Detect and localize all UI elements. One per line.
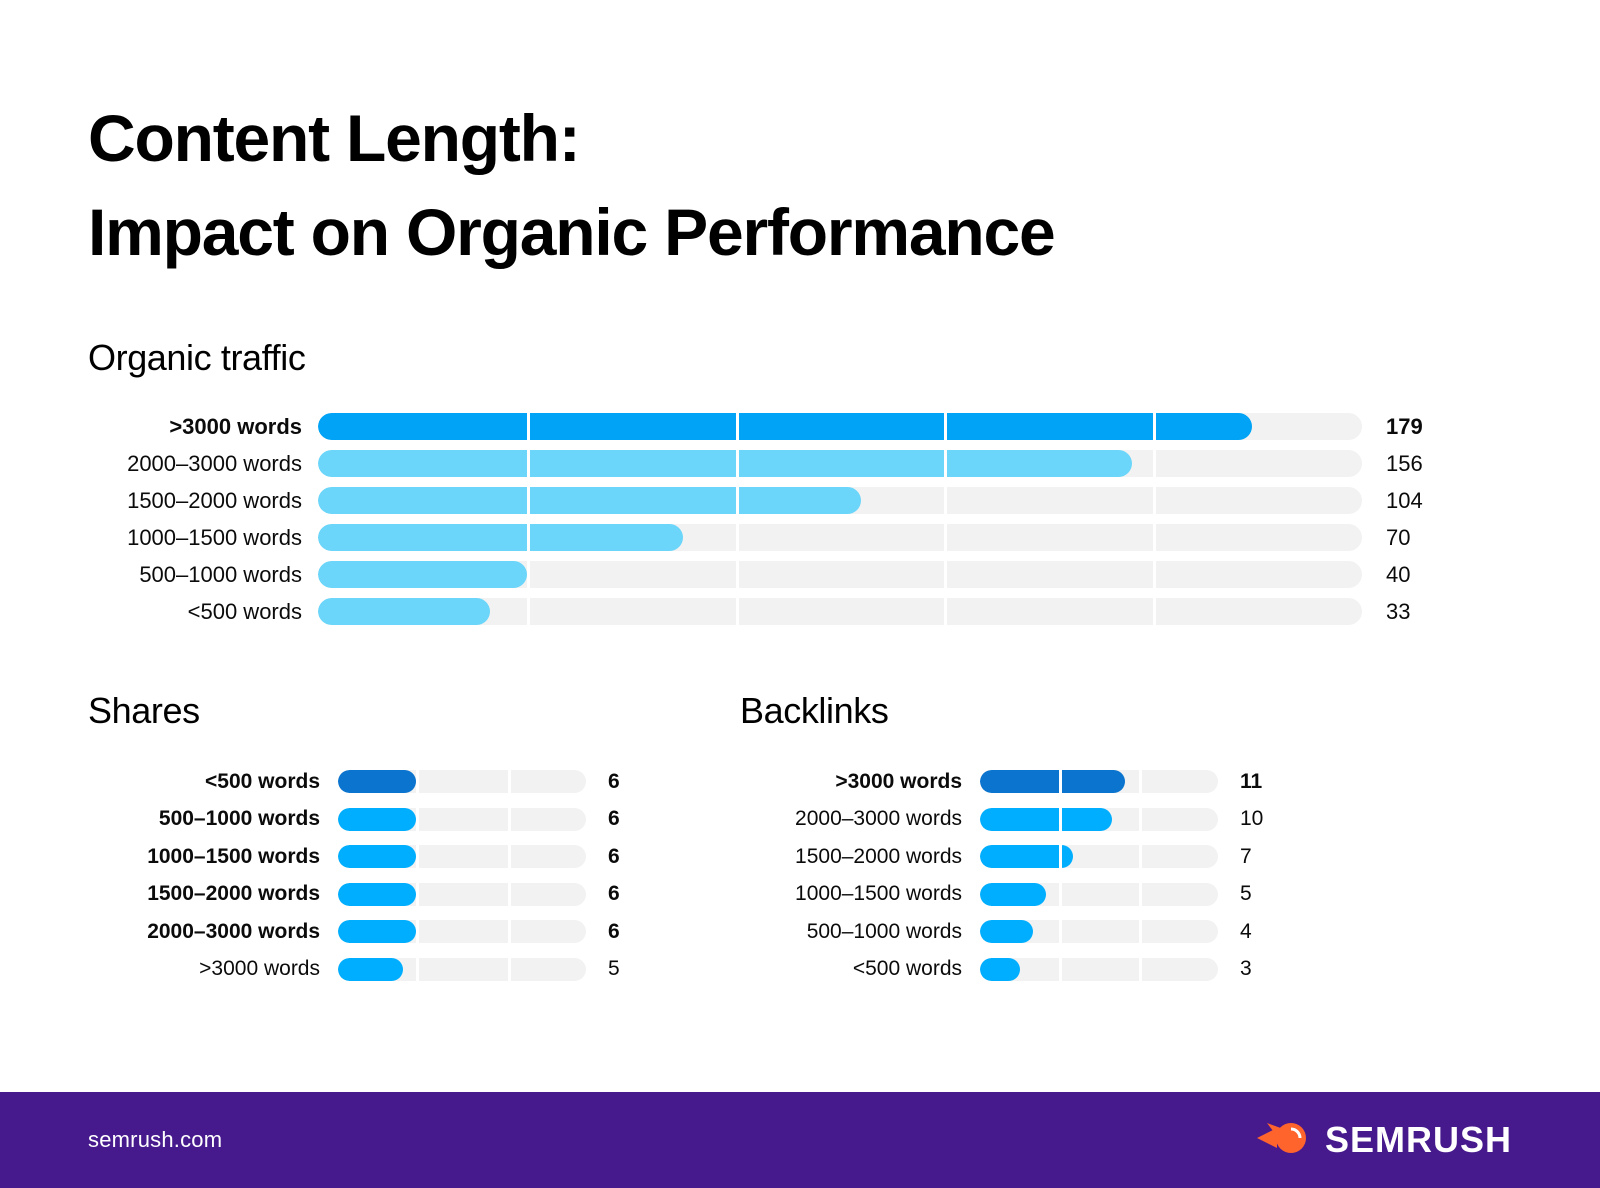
chart-gridline bbox=[736, 598, 739, 625]
chart-row-value: 104 bbox=[1362, 488, 1472, 514]
chart-gridline bbox=[416, 845, 419, 868]
chart-row: 1000–1500 words70 bbox=[88, 519, 1508, 556]
chart-gridline bbox=[1139, 920, 1142, 943]
chart-organic-traffic: Organic traffic >3000 words1792000–3000 … bbox=[88, 337, 1508, 630]
chart-row: <500 words33 bbox=[88, 593, 1508, 630]
chart-row-bar bbox=[338, 845, 416, 868]
chart-rows-shares: <500 words6500–1000 words61000–1500 word… bbox=[88, 763, 708, 988]
chart-row-value: 6 bbox=[586, 882, 676, 906]
chart-gridline bbox=[1059, 958, 1062, 981]
chart-gridline bbox=[527, 450, 530, 477]
chart-row-value: 6 bbox=[586, 770, 676, 794]
chart-gridline bbox=[1139, 845, 1142, 868]
chart-row-label: <500 words bbox=[88, 599, 318, 625]
chart-row: >3000 words11 bbox=[740, 763, 1360, 801]
chart-row-bar bbox=[980, 770, 1125, 793]
chart-row-track bbox=[318, 524, 1362, 551]
chart-gridline bbox=[508, 958, 511, 981]
chart-row-bar bbox=[318, 413, 1252, 440]
chart-gridline bbox=[1059, 920, 1062, 943]
chart-row-label: 1500–2000 words bbox=[88, 488, 318, 514]
chart-row-track bbox=[980, 808, 1218, 831]
chart-row-track bbox=[980, 770, 1218, 793]
chart-shares: Shares <500 words6500–1000 words61000–15… bbox=[88, 690, 708, 988]
chart-row-label: 1500–2000 words bbox=[88, 882, 338, 906]
chart-row: >3000 words5 bbox=[88, 951, 708, 989]
chart-row: 2000–3000 words10 bbox=[740, 801, 1360, 839]
chart-gridline bbox=[944, 524, 947, 551]
chart-rows-organic-traffic: >3000 words1792000–3000 words1561500–200… bbox=[88, 408, 1508, 630]
chart-row-value: 10 bbox=[1218, 807, 1308, 831]
chart-row: 1000–1500 words5 bbox=[740, 876, 1360, 914]
chart-row-value: 5 bbox=[586, 957, 676, 981]
chart-gridline bbox=[1059, 808, 1062, 831]
chart-row-track bbox=[338, 770, 586, 793]
chart-row-track bbox=[980, 920, 1218, 943]
chart-gridline bbox=[736, 487, 739, 514]
chart-row-track bbox=[338, 845, 586, 868]
chart-gridline bbox=[508, 845, 511, 868]
chart-row-value: 7 bbox=[1218, 845, 1308, 869]
chart-row-value: 3 bbox=[1218, 957, 1308, 981]
chart-row-bar bbox=[338, 808, 416, 831]
chart-gridline bbox=[944, 487, 947, 514]
chart-backlinks: Backlinks >3000 words112000–3000 words10… bbox=[740, 690, 1360, 988]
chart-title-organic-traffic: Organic traffic bbox=[88, 337, 1508, 379]
chart-gridline bbox=[416, 920, 419, 943]
chart-row-bar bbox=[338, 920, 416, 943]
chart-gridline bbox=[1139, 883, 1142, 906]
chart-gridline bbox=[527, 524, 530, 551]
chart-row-bar bbox=[318, 598, 490, 625]
chart-gridline bbox=[944, 561, 947, 588]
brand-lockup: SEMRUSH bbox=[1255, 1119, 1512, 1162]
chart-gridline bbox=[736, 561, 739, 588]
chart-row: 1500–2000 words7 bbox=[740, 838, 1360, 876]
page-title-line-2: Impact on Organic Performance bbox=[88, 186, 1388, 280]
chart-gridline bbox=[1139, 770, 1142, 793]
semrush-comet-icon bbox=[1255, 1119, 1311, 1162]
chart-row-label: <500 words bbox=[740, 957, 980, 981]
chart-gridline bbox=[416, 883, 419, 906]
chart-row-track bbox=[318, 413, 1362, 440]
chart-gridline bbox=[944, 450, 947, 477]
page-title-line-1: Content Length: bbox=[88, 92, 1388, 186]
chart-row: 500–1000 words6 bbox=[88, 801, 708, 839]
chart-gridline bbox=[527, 487, 530, 514]
chart-gridline bbox=[527, 413, 530, 440]
chart-row-label: >3000 words bbox=[88, 957, 338, 981]
chart-row-label: 1000–1500 words bbox=[740, 882, 980, 906]
chart-row-track bbox=[318, 450, 1362, 477]
chart-row: 500–1000 words4 bbox=[740, 913, 1360, 951]
chart-row-label: 1000–1500 words bbox=[88, 525, 318, 551]
chart-row: 1000–1500 words6 bbox=[88, 838, 708, 876]
chart-row-bar bbox=[980, 883, 1046, 906]
chart-row: 2000–3000 words156 bbox=[88, 445, 1508, 482]
chart-row-value: 6 bbox=[586, 845, 676, 869]
chart-row-track bbox=[318, 487, 1362, 514]
chart-row: <500 words3 bbox=[740, 951, 1360, 989]
chart-row-label: 2000–3000 words bbox=[88, 920, 338, 944]
chart-row-track bbox=[338, 808, 586, 831]
chart-row-bar bbox=[980, 958, 1020, 981]
chart-row-bar bbox=[338, 958, 403, 981]
chart-gridline bbox=[508, 920, 511, 943]
chart-gridline bbox=[416, 958, 419, 981]
chart-row-label: 1000–1500 words bbox=[88, 845, 338, 869]
chart-row: 1500–2000 words6 bbox=[88, 876, 708, 914]
chart-row-label: 500–1000 words bbox=[740, 920, 980, 944]
footer-url[interactable]: semrush.com bbox=[88, 1127, 222, 1153]
chart-gridline bbox=[1139, 958, 1142, 981]
chart-row-bar bbox=[980, 920, 1033, 943]
chart-row-value: 33 bbox=[1362, 599, 1472, 625]
chart-title-shares: Shares bbox=[88, 690, 708, 732]
chart-gridline bbox=[1153, 450, 1156, 477]
chart-row-label: >3000 words bbox=[88, 414, 318, 440]
chart-gridline bbox=[416, 808, 419, 831]
chart-gridline bbox=[736, 450, 739, 477]
chart-gridline bbox=[944, 413, 947, 440]
chart-row: <500 words6 bbox=[88, 763, 708, 801]
chart-row-bar bbox=[318, 524, 683, 551]
chart-gridline bbox=[527, 561, 530, 588]
infographic-page: Content Length: Impact on Organic Perfor… bbox=[0, 0, 1600, 1188]
chart-row-bar bbox=[318, 450, 1132, 477]
chart-row-label: 2000–3000 words bbox=[740, 807, 980, 831]
chart-gridline bbox=[944, 598, 947, 625]
chart-gridline bbox=[736, 524, 739, 551]
chart-row-bar bbox=[338, 770, 416, 793]
chart-gridline bbox=[1059, 845, 1062, 868]
chart-gridline bbox=[736, 413, 739, 440]
chart-row-bar bbox=[318, 561, 527, 588]
chart-row-label: <500 words bbox=[88, 770, 338, 794]
chart-row-value: 70 bbox=[1362, 525, 1472, 551]
chart-gridline bbox=[508, 883, 511, 906]
chart-row-label: 2000–3000 words bbox=[88, 451, 318, 477]
chart-row: >3000 words179 bbox=[88, 408, 1508, 445]
chart-gridline bbox=[527, 598, 530, 625]
chart-gridline bbox=[508, 808, 511, 831]
chart-gridline bbox=[1153, 413, 1156, 440]
footer-bar: semrush.com SEMRUSH bbox=[0, 1092, 1600, 1188]
chart-gridline bbox=[1139, 808, 1142, 831]
page-title: Content Length: Impact on Organic Perfor… bbox=[88, 92, 1388, 279]
chart-row-track bbox=[318, 598, 1362, 625]
chart-row-bar bbox=[980, 808, 1112, 831]
brand-name: SEMRUSH bbox=[1325, 1119, 1512, 1161]
chart-row: 500–1000 words40 bbox=[88, 556, 1508, 593]
chart-gridline bbox=[1153, 487, 1156, 514]
chart-row-label: >3000 words bbox=[740, 770, 980, 794]
chart-gridline bbox=[416, 770, 419, 793]
chart-rows-backlinks: >3000 words112000–3000 words101500–2000 … bbox=[740, 763, 1360, 988]
chart-row-value: 40 bbox=[1362, 562, 1472, 588]
chart-row-track bbox=[338, 958, 586, 981]
chart-row-track bbox=[338, 920, 586, 943]
chart-row-label: 500–1000 words bbox=[88, 562, 318, 588]
chart-row-bar bbox=[318, 487, 861, 514]
chart-gridline bbox=[1059, 770, 1062, 793]
chart-title-backlinks: Backlinks bbox=[740, 690, 1360, 732]
chart-row: 2000–3000 words6 bbox=[88, 913, 708, 951]
chart-row-value: 11 bbox=[1218, 770, 1308, 794]
chart-row-label: 1500–2000 words bbox=[740, 845, 980, 869]
chart-row-track bbox=[318, 561, 1362, 588]
chart-row-track bbox=[338, 883, 586, 906]
chart-gridline bbox=[1153, 524, 1156, 551]
chart-gridline bbox=[1153, 561, 1156, 588]
chart-row-value: 4 bbox=[1218, 920, 1308, 944]
chart-row-track bbox=[980, 845, 1218, 868]
chart-row-label: 500–1000 words bbox=[88, 807, 338, 831]
chart-row-track bbox=[980, 958, 1218, 981]
chart-row-value: 6 bbox=[586, 920, 676, 944]
chart-row-track bbox=[980, 883, 1218, 906]
chart-gridline bbox=[1059, 883, 1062, 906]
chart-row-value: 5 bbox=[1218, 882, 1308, 906]
chart-row-value: 179 bbox=[1362, 414, 1472, 440]
chart-gridline bbox=[508, 770, 511, 793]
chart-row-value: 6 bbox=[586, 807, 676, 831]
chart-row-value: 156 bbox=[1362, 451, 1472, 477]
chart-row-bar bbox=[338, 883, 416, 906]
chart-row: 1500–2000 words104 bbox=[88, 482, 1508, 519]
chart-gridline bbox=[1153, 598, 1156, 625]
